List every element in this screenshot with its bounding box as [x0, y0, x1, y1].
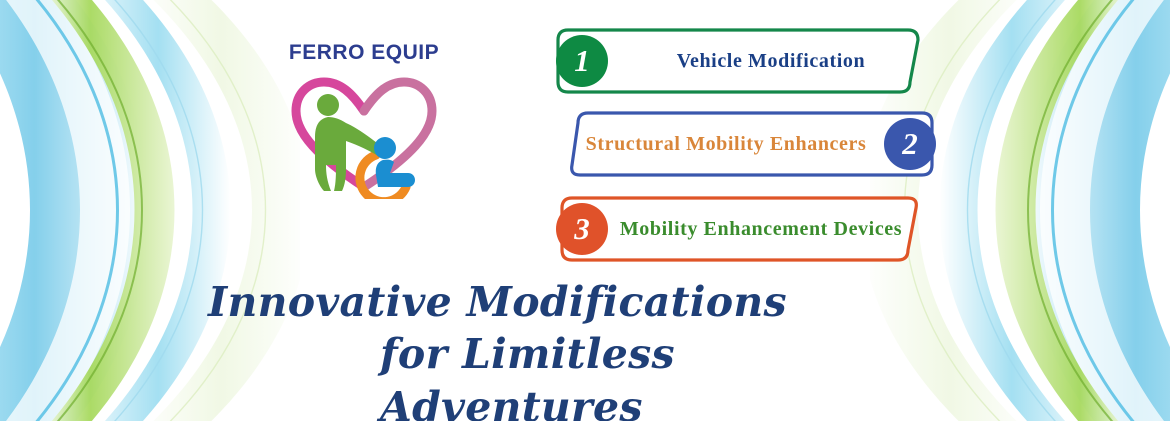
brand-logo[interactable]: FERRO EQUIP [284, 42, 444, 207]
callout-box-3[interactable]: 3 Mobility Enhancement Devices [550, 194, 920, 264]
callout-3-number: 3 [574, 213, 590, 244]
callout-2-label: Structural Mobility Enhancers [576, 109, 876, 179]
tagline-line-2: for Limitless Adventures [140, 328, 900, 421]
callout-2-number-badge: 2 [884, 118, 936, 170]
callout-1-number: 1 [574, 45, 590, 76]
tagline: Innovative Modifications for Limitless A… [140, 276, 900, 421]
callout-2-number: 2 [902, 128, 918, 159]
callout-3-number-badge: 3 [556, 203, 608, 255]
promo-banner: FERRO EQUIP 1 Vehicle Modification [0, 0, 1170, 421]
logo-wordmark: FERRO EQUIP [284, 42, 444, 63]
tagline-line-1: Innovative Modifications [140, 276, 900, 328]
callout-box-1[interactable]: 1 Vehicle Modification [556, 26, 926, 96]
callout-box-2[interactable]: Structural Mobility Enhancers 2 [566, 109, 936, 179]
heart-caregiver-wheelchair-logo-icon [284, 69, 444, 199]
callout-1-number-badge: 1 [556, 35, 608, 87]
callout-1-label: Vehicle Modification [626, 26, 916, 96]
callout-3-label: Mobility Enhancement Devices [612, 194, 910, 264]
